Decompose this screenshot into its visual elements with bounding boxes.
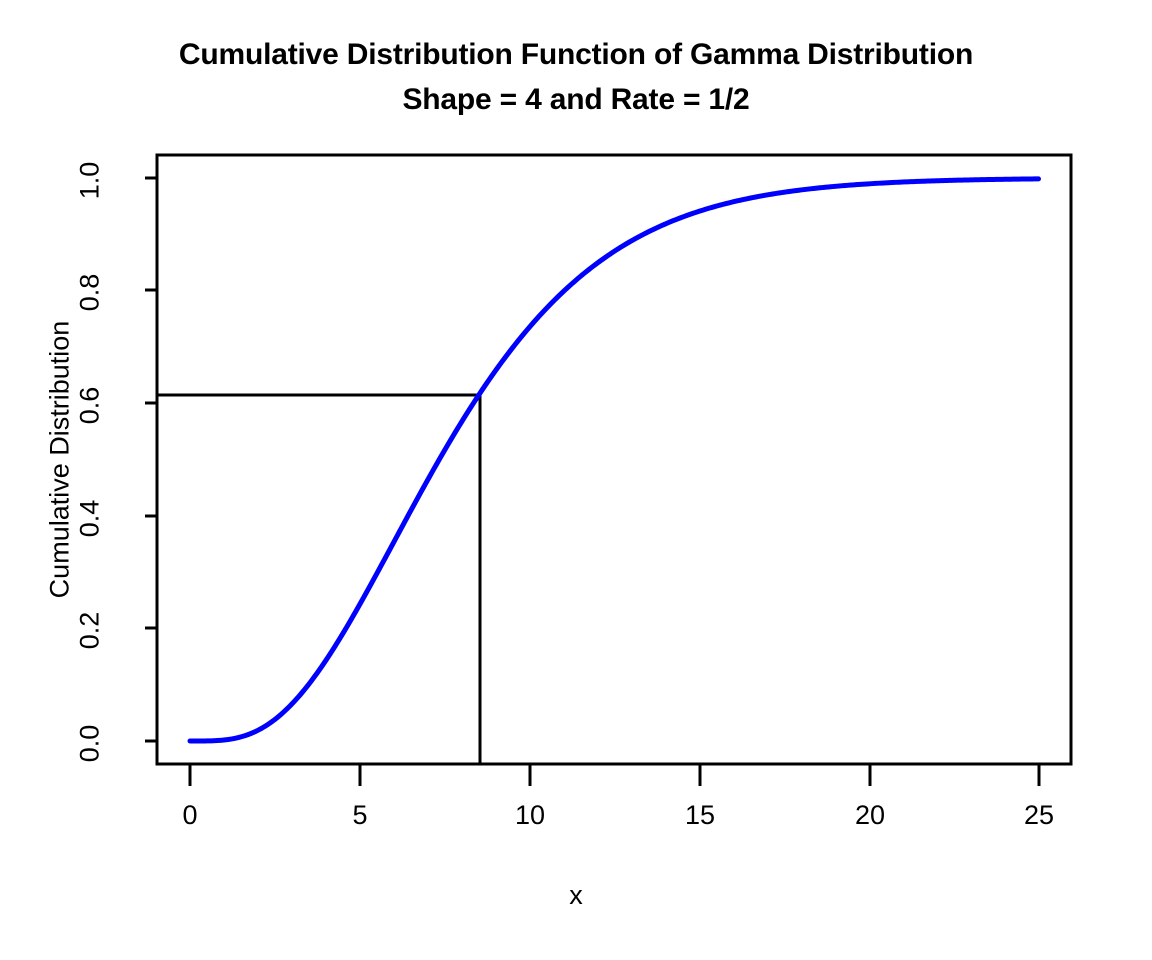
y-tick-label-0.8: 0.8 <box>75 263 106 323</box>
x-tick-label-0: 0 <box>182 800 197 831</box>
y-tick-label-0.6: 0.6 <box>75 376 106 436</box>
y-axis-label: Cumulative Distribution <box>45 220 76 700</box>
y-axis-ticks <box>145 178 157 741</box>
x-tick-label-20: 20 <box>855 800 885 831</box>
x-tick-label-10: 10 <box>515 800 545 831</box>
x-axis-label: x <box>0 880 1152 911</box>
y-tick-label-1.0: 1.0 <box>75 151 106 211</box>
x-tick-label-5: 5 <box>352 800 367 831</box>
plot-box <box>157 155 1071 764</box>
x-tick-label-25: 25 <box>1024 800 1054 831</box>
y-tick-label-0.4: 0.4 <box>75 489 106 549</box>
chart-figure: Cumulative Distribution Function of Gamm… <box>0 0 1152 960</box>
quantile-reference-lines <box>157 395 480 764</box>
gamma-cdf-curve <box>190 179 1039 741</box>
y-tick-label-0.0: 0.0 <box>75 714 106 774</box>
plot-canvas <box>0 0 1152 960</box>
y-tick-label-0.2: 0.2 <box>75 601 106 661</box>
x-tick-label-15: 15 <box>685 800 715 831</box>
x-axis-ticks <box>190 764 1039 786</box>
